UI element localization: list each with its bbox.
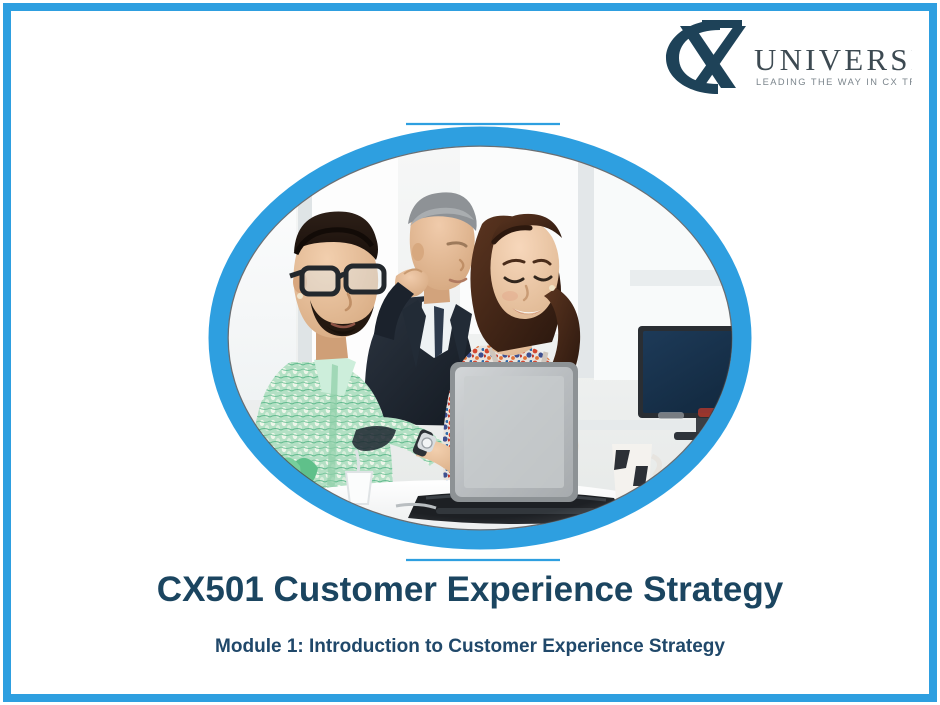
slide: UNIVERSITY LEADING THE WAY IN CX TRAININ…	[0, 0, 940, 705]
page-subtitle: Module 1: Introduction to Customer Exper…	[0, 612, 940, 660]
hero-photo-oval	[160, 120, 800, 570]
cx-monogram-icon	[666, 20, 746, 94]
logo-tagline: LEADING THE WAY IN CX TRAINING	[756, 77, 912, 87]
hero-photograph	[160, 120, 800, 570]
page-title: CX501 Customer Experience Strategy	[0, 568, 940, 612]
cx-university-logo: UNIVERSITY LEADING THE WAY IN CX TRAININ…	[658, 14, 912, 94]
logo-wordmark: UNIVERSITY	[754, 42, 912, 77]
title-block: CX501 Customer Experience Strategy Modul…	[0, 568, 940, 660]
